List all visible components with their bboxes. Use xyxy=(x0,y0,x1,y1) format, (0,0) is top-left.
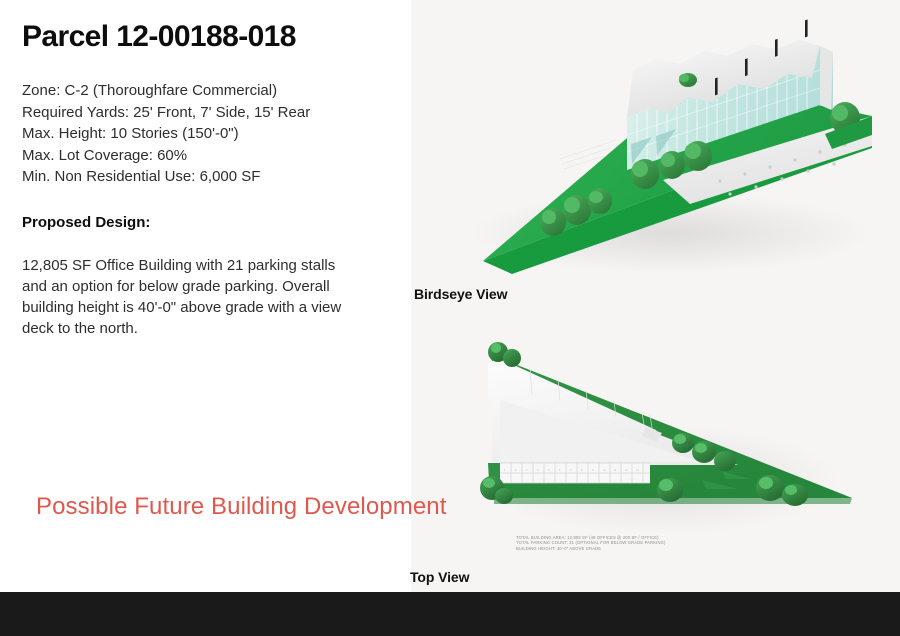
zoning-spec-list: Zone: C-2 (Thoroughfare Commercial) Requ… xyxy=(22,80,392,188)
slide-canvas: Parcel 12-00188-018 Zone: C-2 (Thoroughf… xyxy=(0,0,900,592)
annotation-building-height: BUILDING HEIGHT: 40'-0" ABOVE GRADE xyxy=(516,546,756,551)
top-view-rendering: 123 456 789 101112 13 xyxy=(470,330,870,540)
page-title: Parcel 12-00188-018 xyxy=(22,18,392,56)
caption-birdseye-view: Birdseye View xyxy=(414,286,507,302)
caption-top-view: Top View xyxy=(410,569,469,585)
bottom-bar xyxy=(0,592,900,636)
topview-annotation-block: TOTAL BUILDING AREA: 12,805 SF (48 OFFIC… xyxy=(516,535,756,551)
roof-edge-right xyxy=(820,46,833,110)
spec-min-non-residential: Min. Non Residential Use: 6,000 SF xyxy=(22,166,392,188)
spec-max-lot-coverage: Max. Lot Coverage: 60% xyxy=(22,145,392,167)
parking-stall-bay: 123 456 789 101112 13 xyxy=(500,463,650,483)
spec-zone: Zone: C-2 (Thoroughfare Commercial) xyxy=(22,80,392,102)
proposed-design-heading: Proposed Design: xyxy=(22,213,392,233)
topview-tree-cluster-south xyxy=(657,478,683,502)
birdseye-view-rendering xyxy=(420,18,890,280)
proposed-design-body: 12,805 SF Office Building with 21 parkin… xyxy=(22,255,358,339)
rooftop-tree xyxy=(679,73,697,87)
spec-max-height: Max. Height: 10 Stories (150'-0") xyxy=(22,123,392,145)
spec-required-yards: Required Yards: 25' Front, 7' Side, 15' … xyxy=(22,102,392,124)
text-column: Parcel 12-00188-018 Zone: C-2 (Thoroughf… xyxy=(22,18,392,339)
future-development-note: Possible Future Building Development xyxy=(36,492,447,522)
